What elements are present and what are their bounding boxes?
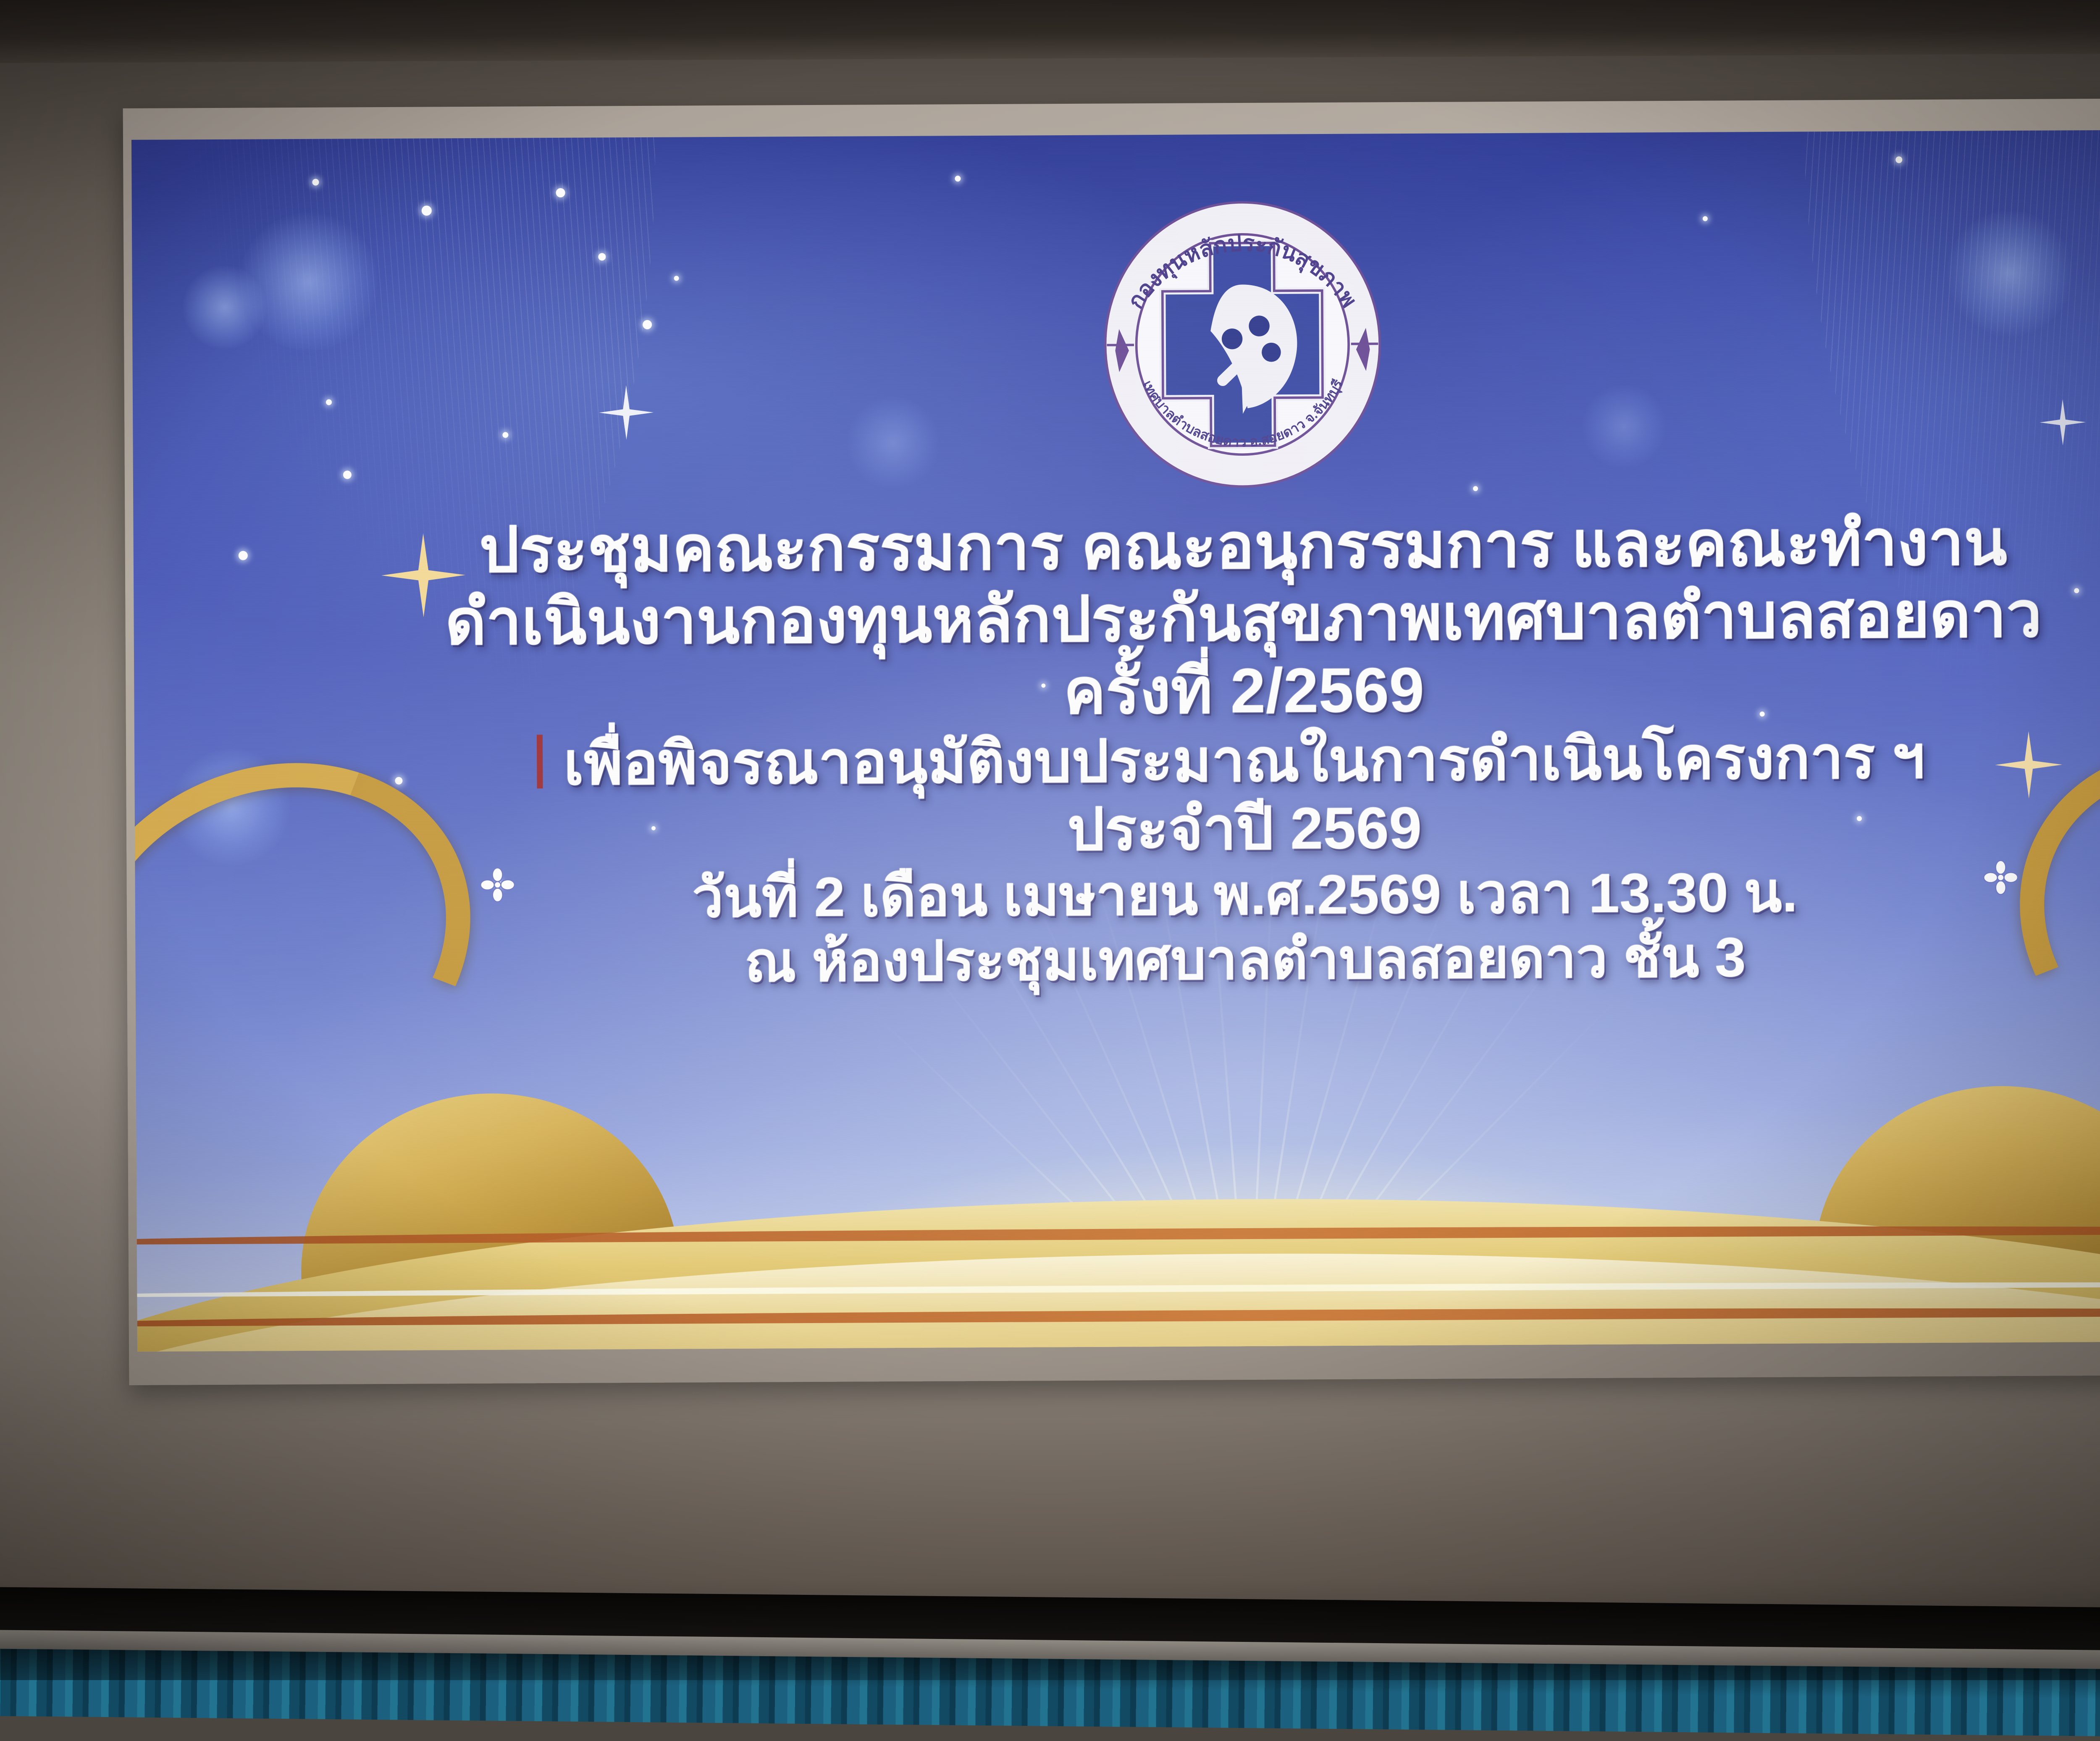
slide-venue-line: ณ ห้องประชุมเทศบาลตำบลสอยดาว ชั้น 3 xyxy=(160,927,2100,993)
gold-mound-right xyxy=(1815,1077,2100,1271)
star-dot xyxy=(343,470,352,479)
gold-swoop-back xyxy=(131,1193,2100,1352)
flower-ornament-icon xyxy=(479,867,515,903)
meeting-room-background: กองทุนหลักประกันสุขภาพ เทศบาลตำบลสอยดาว … xyxy=(0,0,2100,1680)
star-dot xyxy=(502,432,508,438)
red-accent-bar xyxy=(537,735,543,788)
star-dot xyxy=(674,276,679,281)
gold-mound-left xyxy=(291,1083,679,1281)
bokeh-light xyxy=(1582,384,1666,469)
star-dot xyxy=(955,176,961,181)
bokeh-light xyxy=(1946,210,2073,336)
sparkle-star-icon xyxy=(2040,399,2086,446)
bokeh-light xyxy=(847,397,940,489)
slide-purpose-line: เพื่อพิจรณาอนุมัติงบประมาณในการดำเนินโคร… xyxy=(160,726,2100,795)
bokeh-light xyxy=(239,212,378,352)
sparkle-star-icon xyxy=(599,385,654,440)
presentation-slide: กองทุนหลักประกันสุขภาพ เทศบาลตำบลสอยดาว … xyxy=(131,129,2100,1352)
flower-ornament-icon xyxy=(1982,859,2019,895)
slide-title-line-2: ดำเนินงานกองทุนหลักประกันสุขภาพเทศบาลตำบ… xyxy=(159,581,2100,655)
slide-text-block: ประชุมคณะกรรมการ คณะอนุกรรมการ และคณะทำง… xyxy=(133,509,2100,1002)
star-dot xyxy=(556,188,565,197)
gold-accent-line xyxy=(131,1304,2100,1327)
star-dot xyxy=(643,320,652,329)
star-dot xyxy=(312,179,319,186)
gold-swoop-front xyxy=(131,1247,2100,1352)
slide-fiscal-year-line: ประจำปี 2569 xyxy=(160,794,2100,863)
projection-screen: กองทุนหลักประกันสุขภาพ เทศบาลตำบลสอยดาว … xyxy=(123,97,2100,1385)
gold-highlight-line xyxy=(131,1279,2100,1298)
gold-accent-line xyxy=(131,1222,2100,1245)
organization-logo: กองทุนหลักประกันสุขภาพ เทศบาลตำบลสอยดาว … xyxy=(1082,180,1403,511)
star-dot xyxy=(1703,216,1708,221)
slide-occurrence-line: ครั้งที่ 2/2569 xyxy=(159,654,2100,727)
star-dot xyxy=(598,253,606,260)
star-dot xyxy=(422,205,432,215)
slide-title-line-1: ประชุมคณะกรรมการ คณะอนุกรรมการ และคณะทำง… xyxy=(158,509,2100,583)
star-dot xyxy=(1895,156,1902,163)
ceiling-band xyxy=(0,0,2100,63)
slide-datetime-line: วันที่ 2 เดือน เมษายน พ.ศ.2569 เวลา 13.3… xyxy=(160,862,2100,928)
star-dot xyxy=(1473,486,1478,491)
bokeh-light xyxy=(182,265,267,349)
star-dot xyxy=(326,399,332,405)
